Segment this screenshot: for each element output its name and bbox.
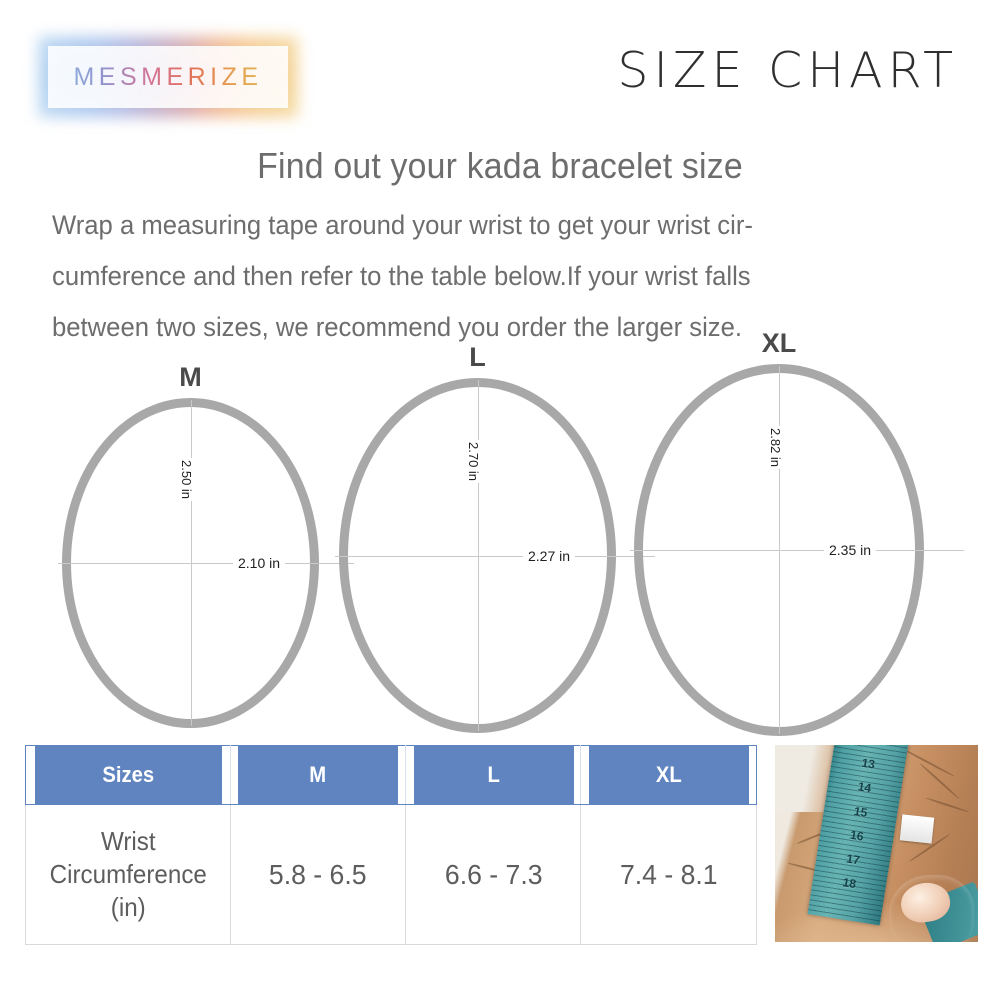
table-header-xl: XL	[588, 746, 749, 805]
oval-height-label-l: 2.70 in	[466, 440, 481, 483]
table-header-m: M	[237, 746, 398, 805]
page-title: SIZE CHART	[617, 42, 958, 99]
cell-range-xl: 7.4 - 8.1	[585, 805, 752, 945]
oval-width-label-xl: 2.35 in	[824, 542, 876, 558]
table-row: Wrist Circumference (in) 5.8 - 6.5 6.6 -…	[26, 805, 757, 945]
oval-height-label-xl: 2.82 in	[768, 426, 783, 469]
oval-size-label-m: M	[179, 364, 202, 391]
size-table: Sizes M L XL Wrist Circumference (in) 5.…	[25, 745, 757, 945]
intro-line-2: cumference and then refer to the table b…	[52, 251, 907, 302]
row-label-wrist-circumference: Wrist Circumference (in)	[33, 805, 223, 945]
row-label-line-2: Circumference	[33, 858, 222, 891]
oval-size-label-l: L	[469, 344, 486, 371]
logo-text: MESMERIZE	[48, 46, 288, 108]
table-header-row: Sizes M L XL	[26, 746, 757, 805]
oval-diagram-group: M 2.50 in 2.10 in L 2.70 in 2.27 in XL 2…	[0, 350, 1000, 745]
row-label-line-3: (in)	[33, 891, 222, 924]
oval-unit-xl: XL 2.82 in 2.35 in	[634, 364, 924, 736]
wrist-measurement-photo: 13 14 15 16 17 18	[775, 745, 978, 942]
brand-logo: MESMERIZE	[48, 46, 288, 108]
oval-height-label-m: 2.50 in	[179, 458, 194, 501]
table-header-l: L	[413, 746, 574, 805]
oval-horizontal-guide-m	[58, 563, 354, 564]
size-table-body: Wrist Circumference (in) 5.8 - 6.5 6.6 -…	[26, 805, 757, 945]
oval-horizontal-guide-l	[335, 556, 655, 557]
oval-unit-m: M 2.50 in 2.10 in	[62, 398, 319, 728]
oval-width-label-l: 2.27 in	[523, 548, 575, 564]
cell-range-m: 5.8 - 6.5	[234, 805, 401, 945]
table-header-sizes: Sizes	[34, 746, 222, 805]
section-heading: Find out your kada bracelet size	[30, 145, 970, 187]
cell-range-l: 6.6 - 7.3	[410, 805, 577, 945]
size-chart-page: MESMERIZE SIZE CHART Find out your kada …	[0, 0, 1000, 1000]
oval-horizontal-guide-xl	[630, 550, 964, 551]
size-table-head: Sizes M L XL	[26, 746, 757, 805]
intro-line-1: Wrap a measuring tape around your wrist …	[52, 200, 907, 251]
oval-unit-l: L 2.70 in 2.27 in	[339, 378, 616, 733]
oval-width-label-m: 2.10 in	[233, 555, 285, 571]
oval-size-label-xl: XL	[762, 330, 797, 357]
row-label-line-1: Wrist	[33, 825, 222, 858]
tape-end-marker	[900, 814, 935, 843]
